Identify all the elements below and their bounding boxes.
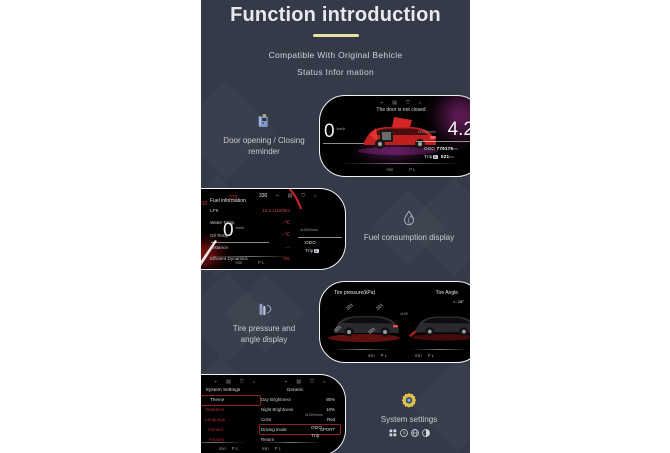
cluster-topbar-icons-settings-r: ⌁ ▤ ⛉ ⌂	[273, 377, 338, 386]
tire-gauge-icon	[255, 300, 273, 318]
menu-item-generic[interactable]: Generic	[208, 427, 224, 432]
home-icon: ⌂	[323, 379, 326, 385]
odo-label: ODO	[305, 240, 316, 245]
odo-value: 779175	[437, 146, 454, 151]
trip-label: Trip	[311, 433, 320, 438]
media-icon: ▤	[296, 379, 301, 385]
generic-row-value: SPORT	[320, 427, 335, 432]
generic-row-value: Red	[327, 417, 335, 422]
trip-label: Trip	[305, 248, 314, 253]
subtitle-line-2: Status Infor mation	[201, 67, 470, 77]
feature-label-line1: Fuel consumption display	[353, 232, 465, 243]
page-title: Function introduction	[201, 4, 470, 27]
cluster-screen-tire[interactable]: Tire pressure(kPa) Tire Angle L: 28° 221…	[319, 281, 470, 363]
trip-badge: A	[433, 155, 438, 159]
home-icon: ⌂	[253, 379, 256, 385]
fuel-row: Water Temp--℃	[210, 220, 290, 226]
fuel-info-title: Fuel information	[210, 198, 300, 204]
feature-label-line1: System settings	[353, 414, 465, 425]
bottom-left-status: min	[236, 260, 243, 265]
generic-row-return[interactable]: Return	[261, 437, 274, 442]
header: Function introduction Compatible With Or…	[201, 0, 470, 77]
fuel-row-value: 12.1 L/100km	[262, 208, 290, 213]
bottom-left-status-2: min	[415, 353, 422, 358]
trip-badge: A	[314, 249, 319, 253]
generic-row-color[interactable]: ColorRed	[261, 417, 335, 422]
generic-row-driving-mode[interactable]: Driving modeSPORT	[261, 427, 335, 432]
bottom-left-status: min	[368, 353, 375, 358]
water-drop-icon	[400, 209, 418, 227]
feature-label-line2: angle display	[209, 334, 319, 345]
generic-row-name: Return	[261, 437, 274, 442]
bottom-right-status-2: P L	[275, 446, 281, 451]
trip-value: 521	[441, 154, 449, 159]
home-icon: ⌂	[419, 100, 422, 106]
title-underline	[313, 34, 359, 37]
fuel-row: LPK12.1 L/100km	[210, 208, 290, 213]
car-icon: ⛉	[406, 100, 410, 106]
fuel-row-name: Oil Temp	[210, 233, 228, 238]
generic-row-name: Color	[261, 417, 272, 422]
rpm-unit-label-tire: x100	[400, 312, 408, 316]
trip-unit: km	[449, 155, 454, 159]
subtitle-line-1: Compatible With Original Behicle	[201, 50, 470, 60]
cluster-bottom-bar-tire: min P L min P L	[320, 353, 470, 358]
gauge-tick-210: 210	[201, 201, 207, 207]
generic-row-value: 10%	[326, 407, 335, 412]
generic-row-name: Night Brightness	[261, 407, 293, 412]
cluster-bottom-divider-fuel	[208, 256, 292, 257]
feature-label-tire: Tire pressure and angle display	[209, 300, 319, 345]
fuel-row-value: --℃	[282, 220, 290, 226]
door-alert-text: The door is not closed	[320, 107, 470, 113]
cluster-bottom-divider-tire-r	[411, 349, 469, 350]
feature-row-tire: Tire pressure and angle display Tire pre…	[201, 276, 470, 364]
feature-label-fuel: Fuel consumption display	[353, 209, 465, 243]
feature-label-settings: System settings	[353, 391, 465, 437]
car-icon: ⛉	[310, 379, 314, 385]
system-settings-menu-title: System Settings	[201, 388, 257, 393]
system-settings-sub-icons	[353, 429, 465, 437]
generic-row-name: Day Brightness	[261, 397, 291, 402]
rpm-unit-label-settings: x1000r/min	[305, 413, 323, 417]
door-open-icon	[255, 112, 273, 130]
bottom-right-status: P L	[409, 167, 415, 172]
menu-item-language[interactable]: Language	[205, 417, 225, 422]
rpm-divider-fuel	[298, 237, 342, 238]
odo-label: ODO	[311, 425, 322, 430]
cluster-bottom-bar-settings: min P L min P L	[201, 446, 345, 451]
contrast-icon	[422, 429, 430, 437]
odometer-row-settings: ODO	[311, 425, 322, 430]
fuel-row-name: Water Temp	[210, 220, 235, 225]
generic-row-name: Driving mode	[261, 427, 287, 432]
fuel-row-name: LPK	[210, 208, 219, 213]
page-root: Function introduction Compatible With Or…	[0, 0, 670, 453]
nav-icon: ⌁	[284, 379, 287, 385]
cluster-bottom-divider-settings-r	[261, 442, 322, 443]
cluster-topbar-icons: ⌁ ▤ ⛉ ⌂	[344, 98, 457, 107]
trip-row-fuel: TripA	[305, 248, 319, 253]
generic-row-night-brightness[interactable]: Night Brightness10%	[261, 407, 335, 412]
generic-row-value: 80%	[326, 397, 335, 402]
menu-item-datetime[interactable]: Datetime	[206, 407, 224, 412]
bottom-right-status: P L	[258, 260, 264, 265]
gear-icon	[400, 391, 418, 409]
car-icon: ⛉	[240, 379, 244, 385]
home-icon: ⌂	[314, 193, 317, 199]
media-icon: ▤	[226, 379, 231, 385]
cluster-topbar-icons-settings-l: ⌁ ▤ ⛉ ⌂	[201, 377, 269, 386]
feature-row-fuel: ⌁ ▤ ⛉ ⌂ 210 270 330 0km/h	[201, 183, 470, 271]
globe-icon	[411, 429, 419, 437]
speed-value: 0km/h	[324, 122, 345, 141]
fuel-row-value: --℃	[282, 232, 290, 238]
menu-item-theme[interactable]: Theme	[210, 397, 224, 402]
tire-pressure-title: Tire pressure(kPa)	[334, 290, 375, 296]
fuel-row: Distance---	[210, 245, 290, 250]
fuel-row: Oil Temp--℃	[210, 232, 290, 238]
speed-unit: km/h	[337, 126, 346, 131]
nav-icon: ⌁	[214, 379, 217, 385]
fuel-row-name: Distance	[210, 245, 228, 250]
trip-row-settings: Trip	[311, 433, 320, 438]
generic-panel-title: Generic	[259, 388, 331, 393]
bottom-left-status-2: min	[262, 446, 269, 451]
tire-angle-title: Tire Angle	[436, 290, 458, 296]
rpm-divider	[416, 141, 470, 142]
bottom-right-status-2: P L	[428, 353, 434, 358]
cluster-screen-fuel[interactable]: ⌁ ▤ ⛉ ⌂ 210 270 330 0km/h	[201, 188, 346, 270]
generic-row-day-brightness[interactable]: Day Brightness80%	[261, 397, 335, 402]
media-icon: ▤	[392, 100, 397, 106]
odometer-row-fuel: ODO	[305, 240, 316, 245]
rpm-value: 4.2	[448, 120, 470, 139]
grid-icon	[389, 429, 397, 437]
bottom-right-status: P L	[381, 353, 387, 358]
cluster-screen-settings[interactable]: ⌁ ▤ ⛉ ⌂ ⌁ ▤ ⛉ ⌂ System Settings Theme Da…	[201, 374, 346, 453]
feature-label-line2: reminder	[209, 146, 319, 157]
feature-row-door-reminder: Door opening / Closing reminder ⌁ ▤ ⛉ ⌂ …	[201, 90, 470, 178]
rpm-unit-label-fuel: x1000r/min	[300, 228, 318, 232]
cluster-bottom-divider	[339, 163, 462, 164]
cluster-bottom-divider-tire-l	[333, 349, 391, 350]
trip-label: Trip	[424, 154, 433, 159]
cluster-bottom-bar: min P L	[320, 167, 470, 172]
fuel-row-value: ---	[285, 245, 290, 250]
feature-row-settings: ⌁ ▤ ⛉ ⌂ ⌁ ▤ ⛉ ⌂ System Settings Theme Da…	[201, 369, 470, 453]
odo-unit: km	[453, 147, 458, 151]
rpm-unit-label: x1000r/min	[418, 130, 436, 134]
cluster-bottom-bar-fuel: min P L	[201, 260, 345, 265]
cluster-bottom-divider-settings-l	[201, 442, 246, 443]
feature-label-door-reminder: Door opening / Closing reminder	[209, 112, 319, 157]
bottom-right-status: P L	[232, 446, 238, 451]
car-illustration-right	[408, 304, 470, 344]
fuel-info-table: LPK12.1 L/100km Water Temp--℃ Oil Temp--…	[210, 208, 290, 268]
content-panel: Function introduction Compatible With Or…	[201, 0, 470, 453]
clock-icon	[400, 429, 408, 437]
bottom-left-status: min	[387, 167, 394, 172]
nav-icon: ⌁	[380, 100, 383, 106]
cluster-screen-door[interactable]: ⌁ ▤ ⛉ ⌂ The door is not closed 0km/h	[319, 95, 470, 177]
trip-row: TripA 521km	[424, 154, 454, 159]
odometer-row: ODO 779175km	[424, 146, 458, 151]
bottom-left-status: min	[219, 446, 226, 451]
odo-label: ODO	[424, 146, 435, 151]
feature-label-line1: Tire pressure and	[209, 323, 319, 334]
feature-label-line1: Door opening / Closing	[209, 135, 319, 146]
